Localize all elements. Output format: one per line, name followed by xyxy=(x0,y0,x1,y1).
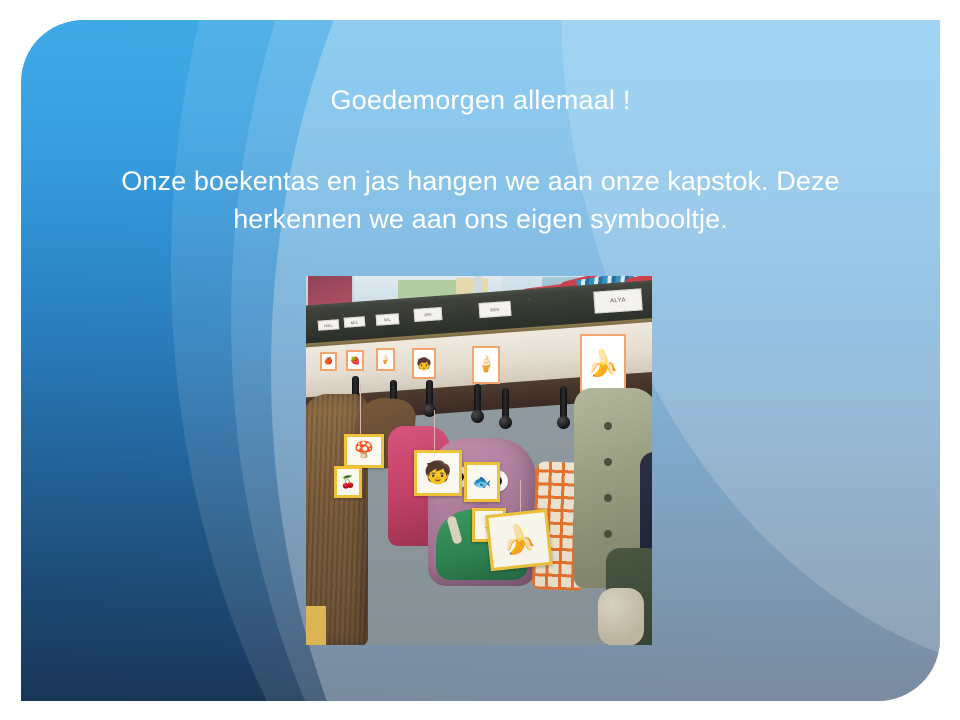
jacket-button xyxy=(604,422,612,430)
shelf-name-label: ALYA xyxy=(593,288,642,313)
jacket-button xyxy=(604,494,612,502)
shelf-name-label: ARI xyxy=(414,307,443,322)
jacket-button xyxy=(604,530,612,538)
shelf-name-label: NIL xyxy=(376,313,400,326)
hanging-tag-cherry-icon: 🍒 xyxy=(334,466,362,498)
slide-title: Goedemorgen allemaal ! xyxy=(21,20,940,118)
shelf-name-label: NEL xyxy=(318,319,340,330)
shelf-name-label: MIL xyxy=(344,316,366,327)
rail-card-ice-cream-icon: 🍦 xyxy=(376,348,395,371)
coat-hook xyxy=(560,386,567,424)
hanging-tag-boy-figure-icon: 🧒 xyxy=(414,450,462,496)
slide-stage: Goedemorgen allemaal ! Onze boekentas en… xyxy=(0,0,960,720)
shelf-name-label: BEN xyxy=(479,301,512,318)
coat-hook xyxy=(474,384,481,418)
tag-string xyxy=(434,410,435,452)
rail-card-apple-icon: 🍎 xyxy=(320,352,337,371)
slide-text-block: Goedemorgen allemaal ! Onze boekentas en… xyxy=(21,20,940,238)
rail-card-ice-cream-cone-icon: 🍦 xyxy=(472,346,500,384)
sheepskin-coat xyxy=(598,588,644,645)
yellow-scarf xyxy=(306,606,326,645)
coat-hook xyxy=(502,388,509,424)
coat-rack-photo: NEL MIL NIL ARI BEN ALYA 🍎 🍓 🍦 🧒 🍦 🍌 xyxy=(306,276,652,645)
rail-card-boy-figure-icon: 🧒 xyxy=(412,348,436,379)
hanging-tag-fish-icon: 🐟 xyxy=(464,462,500,502)
rail-card-banana-icon: 🍌 xyxy=(580,334,626,392)
slide-background: Goedemorgen allemaal ! Onze boekentas en… xyxy=(21,20,940,701)
tag-string xyxy=(520,480,521,514)
backpack-tooth xyxy=(446,515,462,544)
hanging-tag-mushroom-icon: 🍄 xyxy=(344,434,384,468)
photo-scene: NEL MIL NIL ARI BEN ALYA 🍎 🍓 🍦 🧒 🍦 🍌 xyxy=(306,276,652,645)
rail-card-strawberry-icon: 🍓 xyxy=(346,350,364,371)
slide-subtitle: Onze boekentas en jas hangen we aan onze… xyxy=(21,118,940,239)
tag-string xyxy=(360,384,361,436)
hanging-tag-banana-icon: 🍌 xyxy=(485,509,553,571)
coat-hook xyxy=(426,380,433,412)
jacket-button xyxy=(604,458,612,466)
